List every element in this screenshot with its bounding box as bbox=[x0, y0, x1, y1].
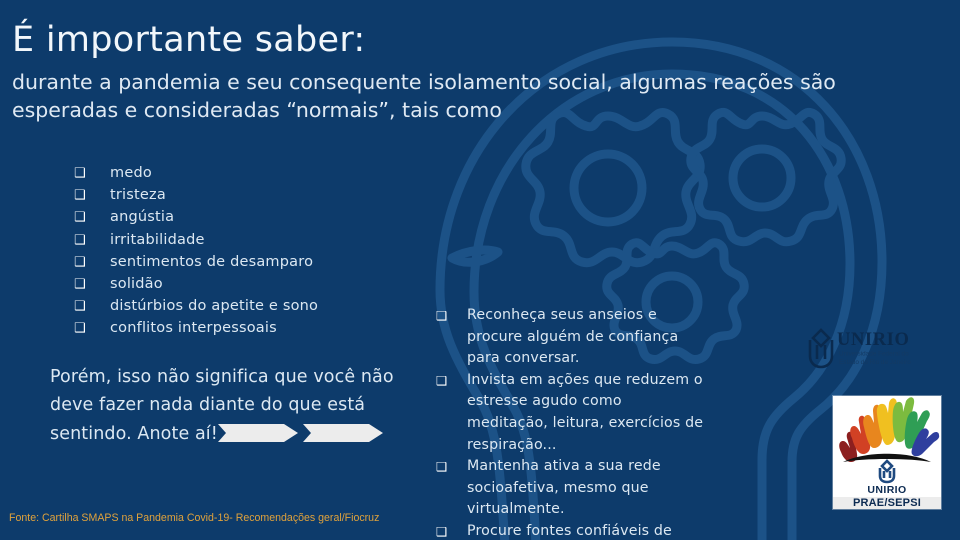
list-item: ❑ tristeza bbox=[74, 188, 404, 210]
list-item-label: Reconheça seus anseios e procure alguém … bbox=[467, 305, 706, 370]
list-item: ❑ angústia bbox=[74, 210, 404, 232]
prae-wordmark: UNIRIO bbox=[867, 484, 906, 496]
list-item-label: Procure fontes confiáveis de informação. bbox=[467, 521, 706, 540]
checkbox-icon: ❑ bbox=[74, 167, 110, 180]
list-item-label: sentimentos de desamparo bbox=[110, 255, 313, 270]
page-title: É importante saber: bbox=[12, 22, 892, 60]
list-item-label: irritabilidade bbox=[110, 233, 205, 248]
list-item-label: conflitos interpessoais bbox=[110, 321, 277, 336]
checkbox-icon: ❑ bbox=[436, 521, 467, 540]
checkbox-icon: ❑ bbox=[74, 300, 110, 313]
unirio-logo: UNIRIO Universidade Federal do Estado do… bbox=[806, 326, 956, 370]
list-item-label: solidão bbox=[110, 277, 163, 292]
list-item: ❑ Reconheça seus anseios e procure algué… bbox=[436, 305, 706, 370]
list-item-label: Mantenha ativa a sua rede socioafetiva, … bbox=[467, 456, 706, 521]
chevron-arrow-icon bbox=[303, 424, 383, 442]
slide-canvas: É importante saber: durante a pandemia e… bbox=[0, 0, 960, 540]
checkbox-icon: ❑ bbox=[436, 370, 467, 392]
list-item: ❑ solidão bbox=[74, 277, 404, 299]
list-item-label: Invista em ações que reduzem o estresse … bbox=[467, 370, 706, 456]
prae-sepsi-logo: UNIRIO PRAE/SEPSI bbox=[833, 396, 941, 509]
list-item: ❑ Mantenha ativa a sua rede socioafetiva… bbox=[436, 456, 706, 521]
checkbox-icon: ❑ bbox=[74, 256, 110, 269]
checkbox-icon: ❑ bbox=[74, 278, 110, 291]
prae-unit-label: PRAE/SEPSI bbox=[853, 497, 921, 509]
list-item: ❑ distúrbios do apetite e sono bbox=[74, 299, 404, 321]
list-item: ❑ Invista em ações que reduzem o estress… bbox=[436, 370, 706, 456]
list-item-label: tristeza bbox=[110, 188, 166, 203]
checkbox-icon: ❑ bbox=[436, 456, 467, 478]
checkbox-icon: ❑ bbox=[74, 234, 110, 247]
checkbox-icon: ❑ bbox=[74, 189, 110, 202]
checkbox-icon: ❑ bbox=[74, 322, 110, 335]
unirio-wordmark: UNIRIO bbox=[837, 330, 909, 350]
checkbox-icon: ❑ bbox=[74, 211, 110, 224]
advice-list: ❑ Reconheça seus anseios e procure algué… bbox=[436, 305, 706, 540]
arrow-group bbox=[218, 424, 383, 442]
list-item-label: medo bbox=[110, 166, 152, 181]
list-item: ❑ Procure fontes confiáveis de informaçã… bbox=[436, 521, 706, 540]
list-item: ❑ medo bbox=[74, 166, 404, 188]
list-item-label: angústia bbox=[110, 210, 174, 225]
source-footer: Fonte: Cartilha SMAPS na Pandemia Covid-… bbox=[9, 512, 429, 526]
list-item-label: distúrbios do apetite e sono bbox=[110, 299, 318, 314]
list-item: ❑ conflitos interpessoais bbox=[74, 321, 404, 343]
list-item: ❑ sentimentos de desamparo bbox=[74, 255, 404, 277]
unirio-subtitle-line1: Universidade Federal do bbox=[839, 351, 909, 358]
chevron-arrow-icon bbox=[218, 424, 298, 442]
reactions-list: ❑ medo ❑ tristeza ❑ angústia ❑ irritabil… bbox=[74, 166, 404, 344]
list-item: ❑ irritabilidade bbox=[74, 233, 404, 255]
checkbox-icon: ❑ bbox=[436, 305, 467, 327]
unirio-subtitle-line2: Estado do Rio de Janeiro bbox=[839, 359, 911, 366]
page-subtitle: durante a pandemia e seu consequente iso… bbox=[12, 68, 882, 125]
slide-header: É importante saber: durante a pandemia e… bbox=[12, 22, 892, 124]
